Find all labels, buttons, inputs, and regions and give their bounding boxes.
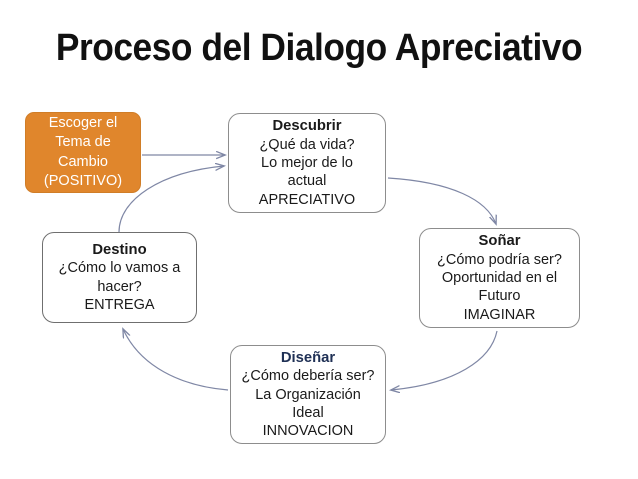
- node-disenar-line-3: Ideal: [292, 404, 323, 422]
- page-title: Proceso del Dialogo Apreciativo: [22, 28, 615, 70]
- node-descubrir-heading: Descubrir: [272, 117, 341, 136]
- node-disenar[interactable]: Diseñar ¿Cómo debería ser? La Organizaci…: [230, 345, 386, 444]
- node-start-line-2: Tema de: [55, 133, 111, 152]
- arrow-disenar-to-destino: [123, 329, 228, 390]
- node-start-line-3: Cambio: [58, 153, 108, 172]
- node-disenar-line-1: ¿Cómo debería ser?: [242, 367, 375, 385]
- node-disenar-heading: Diseñar: [281, 349, 335, 368]
- node-sonar-line-2: Oportunidad en el: [442, 269, 557, 287]
- node-descubrir[interactable]: Descubrir ¿Qué da vida? Lo mejor de lo a…: [228, 113, 386, 213]
- node-destino-line-2: hacer?: [97, 278, 141, 296]
- slide-canvas: Proceso del Dialogo Apreciativo Escoger …: [0, 0, 638, 479]
- node-descubrir-line-4: APRECIATIVO: [259, 191, 355, 209]
- node-descubrir-line-3: actual: [288, 172, 327, 190]
- node-destino[interactable]: Destino ¿Cómo lo vamos a hacer? ENTREGA: [42, 232, 197, 323]
- arrow-sonar-to-disenar: [391, 331, 497, 390]
- node-descubrir-line-2: Lo mejor de lo: [261, 154, 353, 172]
- node-sonar-heading: Soñar: [479, 232, 521, 251]
- node-disenar-line-4: INNOVACION: [263, 422, 354, 440]
- node-destino-line-1: ¿Cómo lo vamos a: [59, 259, 181, 277]
- node-destino-heading: Destino: [92, 241, 146, 260]
- node-destino-line-3: ENTREGA: [84, 296, 154, 314]
- node-start-line-1: Escoger el: [49, 114, 118, 133]
- node-descubrir-line-1: ¿Qué da vida?: [259, 136, 354, 154]
- node-disenar-line-2: La Organización: [255, 386, 361, 404]
- node-sonar-line-3: Futuro: [479, 287, 521, 305]
- node-sonar-line-4: IMAGINAR: [464, 306, 536, 324]
- arrow-descubrir-to-sonar: [388, 178, 496, 224]
- node-sonar[interactable]: Soñar ¿Cómo podría ser? Oportunidad en e…: [419, 228, 580, 328]
- node-start-line-4: (POSITIVO): [44, 172, 122, 191]
- node-escoger-tema-cambio[interactable]: Escoger el Tema de Cambio (POSITIVO): [25, 112, 141, 193]
- node-sonar-line-1: ¿Cómo podría ser?: [437, 251, 562, 269]
